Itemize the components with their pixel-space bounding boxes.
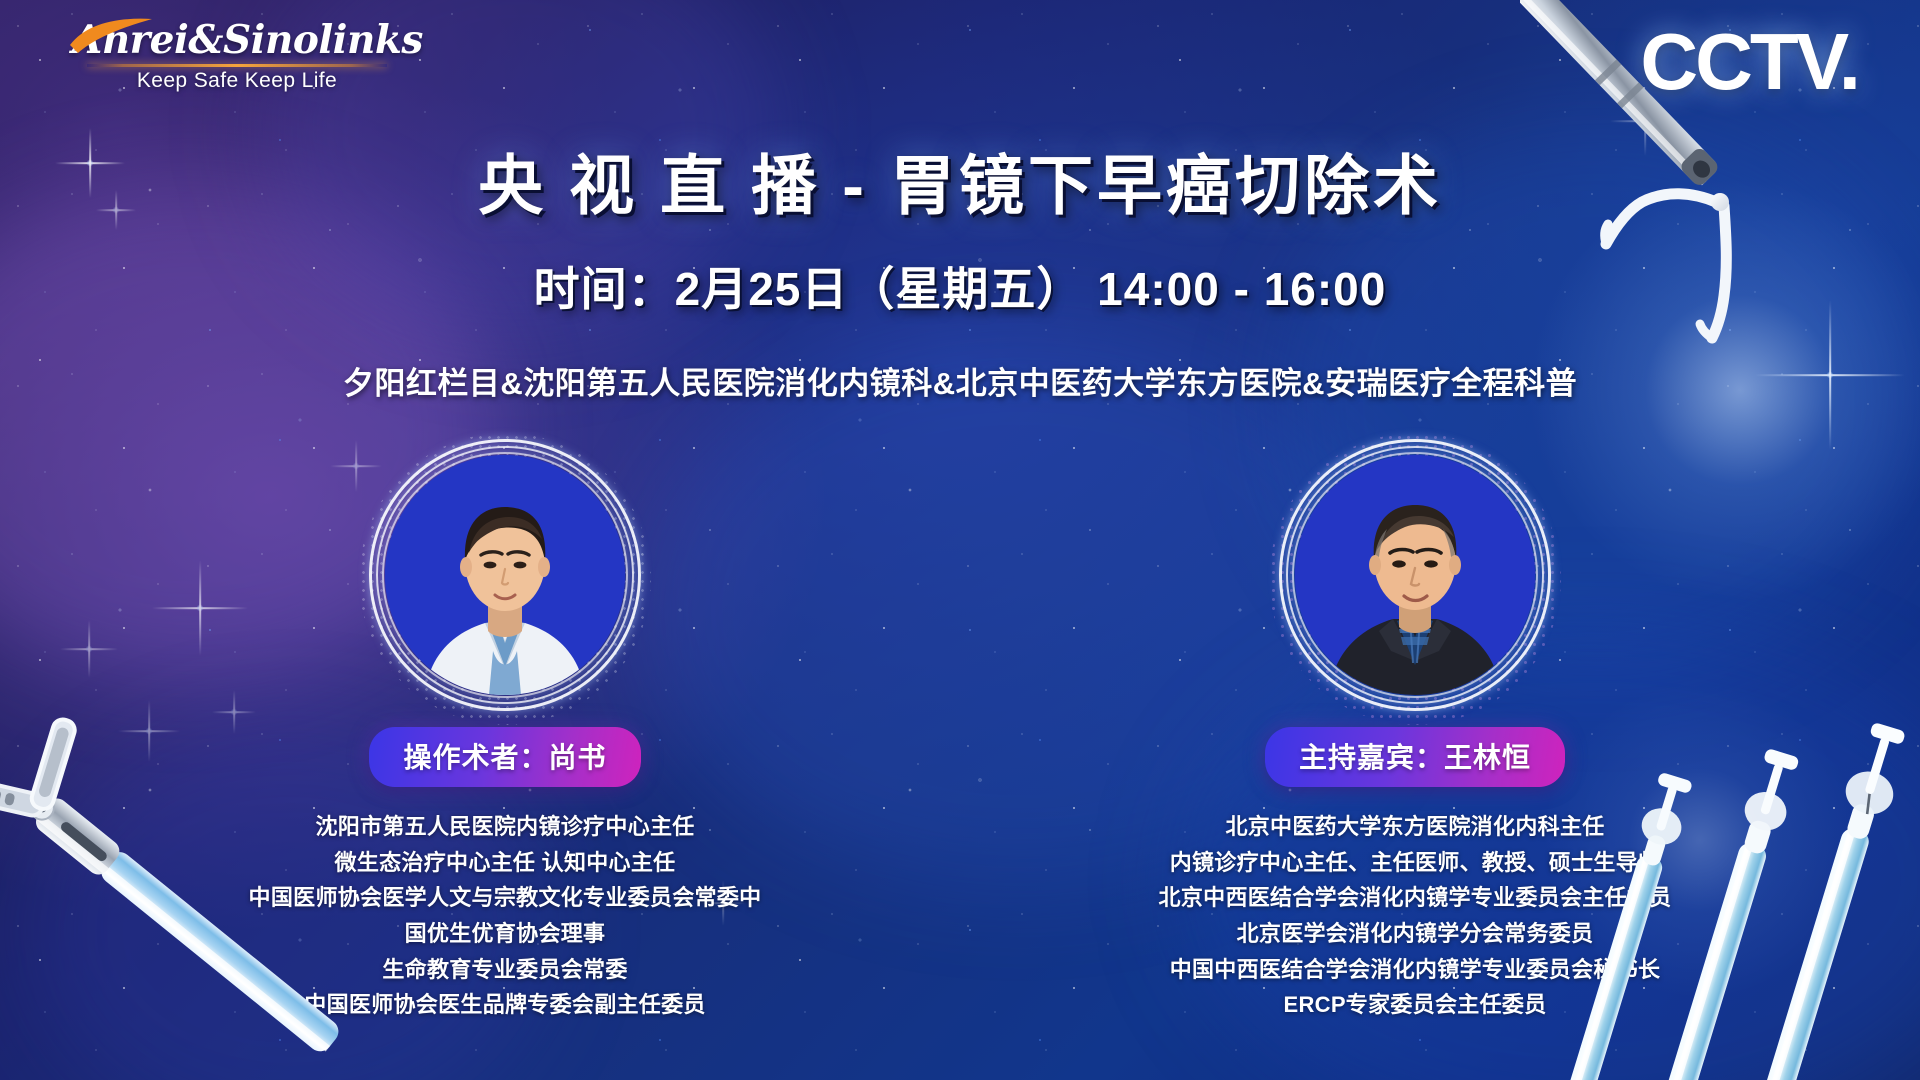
avatar-frame — [385, 455, 625, 695]
brand-tagline: Keep Safe Keep Life — [72, 69, 402, 93]
credential-line: 内镜诊疗中心主任、主任医师、教授、硕士生导师 — [1155, 845, 1675, 881]
portrait-operator — [385, 455, 625, 695]
sparkle-star-icon — [60, 620, 118, 678]
credential-line: 中国中西医结合学会消化内镜学专业委员会秘书长 — [1155, 952, 1675, 988]
page-title: 央 视 直 播 - 胃镜下早癌切除术 — [0, 133, 1920, 227]
role-badge: 主持嘉宾：王林恒 — [1265, 727, 1565, 787]
credential-line: 中国医师协会医学人文与宗教文化专业委员会常委中 — [245, 880, 765, 916]
credential-line: 北京中医药大学东方医院消化内科主任 — [1155, 809, 1675, 845]
credential-line: 微生态治疗中心主任 认知中心主任 — [245, 845, 765, 881]
credential-line: 中国医师协会医生品牌专委会副主任委员 — [245, 987, 765, 1023]
cctv-logo: CCTV. — [1640, 16, 1858, 108]
sparkle-star-icon — [152, 560, 248, 656]
credentials-list: 沈阳市第五人民医院内镜诊疗中心主任 微生态治疗中心主任 认知中心主任 中国医师协… — [245, 809, 765, 1023]
portrait-host — [1295, 455, 1535, 695]
brand-name: Anrei&Sinolinks — [72, 20, 402, 61]
organizers-line: 夕阳红栏目&沈阳第五人民医院消化内镜科&北京中医药大学东方医院&安瑞医疗全程科普 — [0, 358, 1920, 403]
credential-line: 北京中西医结合学会消化内镜学专业委员会主任委员 — [1155, 880, 1675, 916]
person-card-host: 主持嘉宾：王林恒 北京中医药大学东方医院消化内科主任 内镜诊疗中心主任、主任医师… — [1155, 455, 1675, 1023]
credential-line: 沈阳市第五人民医院内镜诊疗中心主任 — [245, 809, 765, 845]
event-time: 时间：2月25日（星期五） 14:00 - 16:00 — [0, 253, 1920, 319]
brand-logo: Anrei&Sinolinks Keep Safe Keep Life — [72, 20, 402, 93]
poster-canvas: Anrei&Sinolinks Keep Safe Keep Life CCTV… — [0, 0, 1920, 1080]
role-badge: 操作术者：尚书 — [369, 727, 640, 787]
sparkle-star-icon — [118, 700, 180, 762]
credential-line: ERCP专家委员会主任委员 — [1155, 987, 1675, 1023]
avatar — [385, 455, 625, 695]
credential-line: 北京医学会消化内镜学分会常务委员 — [1155, 916, 1675, 952]
brand-divider — [87, 64, 387, 67]
avatar-frame — [1295, 455, 1535, 695]
person-card-operator: 操作术者：尚书 沈阳市第五人民医院内镜诊疗中心主任 微生态治疗中心主任 认知中心… — [245, 455, 765, 1023]
credentials-list: 北京中医药大学东方医院消化内科主任 内镜诊疗中心主任、主任医师、教授、硕士生导师… — [1155, 809, 1675, 1023]
credential-line: 生命教育专业委员会常委 — [245, 952, 765, 988]
avatar — [1295, 455, 1535, 695]
credential-line: 国优生优育协会理事 — [245, 916, 765, 952]
